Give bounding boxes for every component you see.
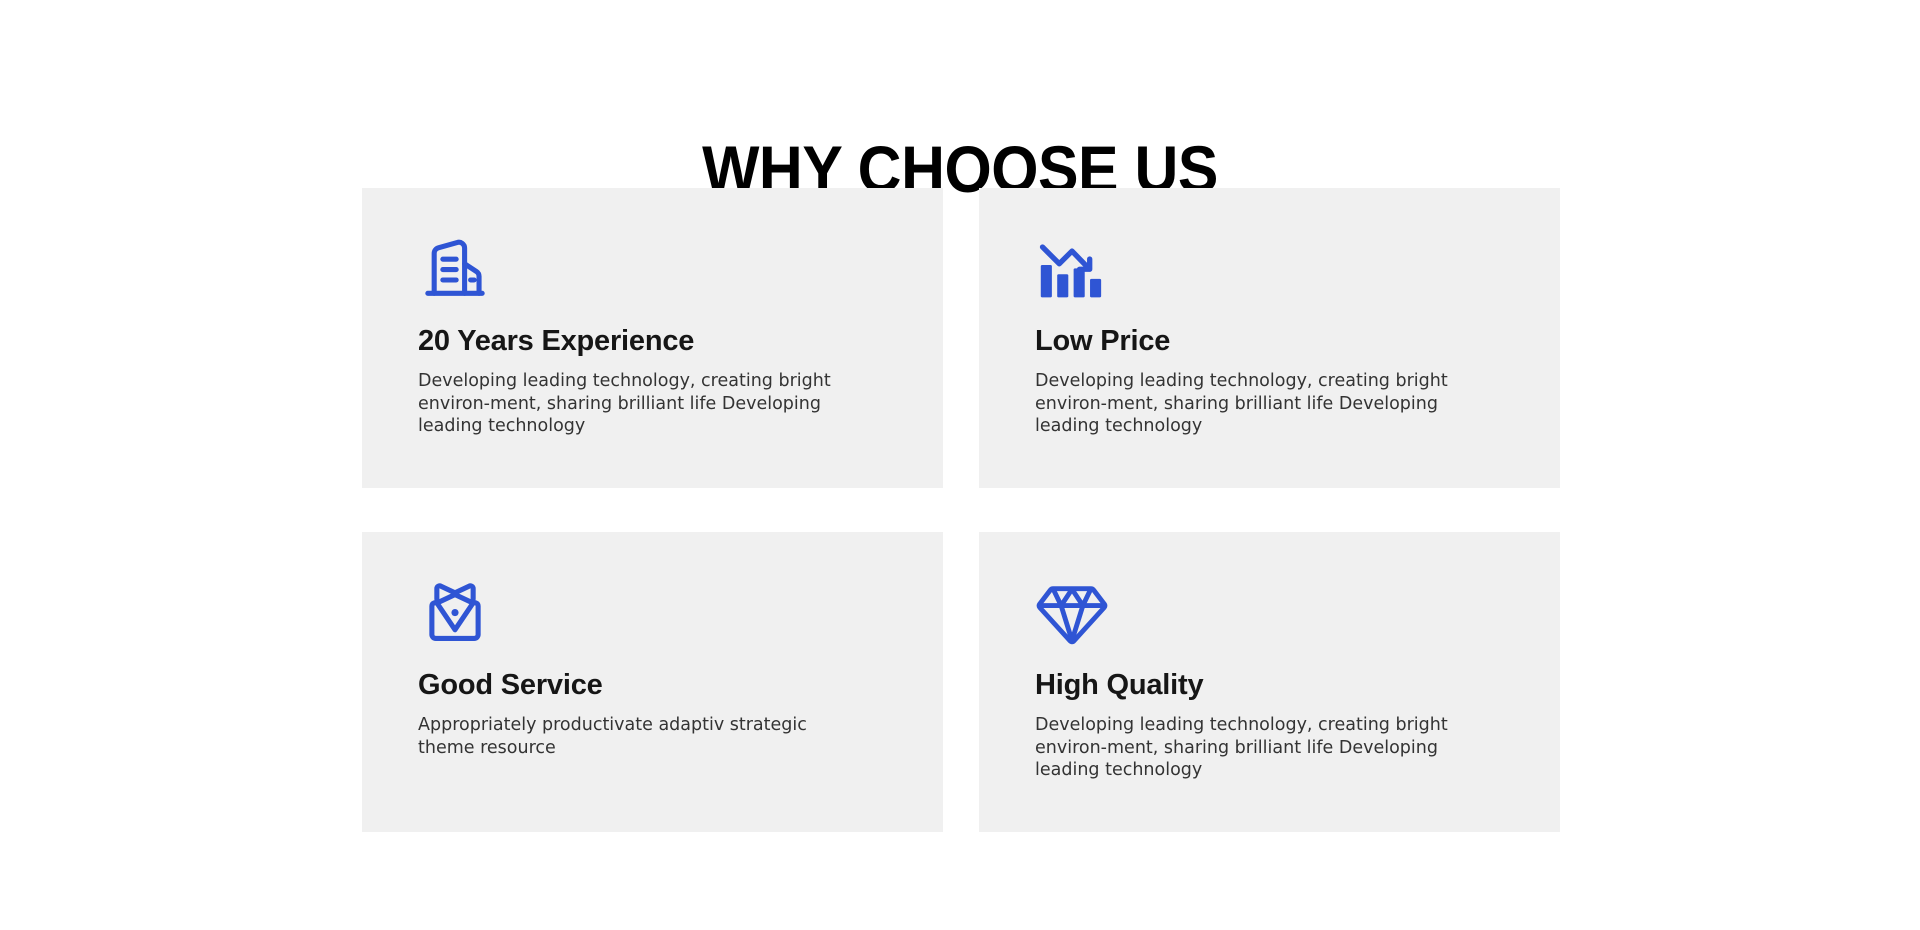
feature-card-description: Appropriately productivate adaptiv strat… xyxy=(418,714,838,759)
feature-card-high-quality[interactable]: High Quality Developing leading technolo… xyxy=(979,532,1560,832)
feature-card-20-years-experience[interactable]: 20 Years Experience Developing leading t… xyxy=(362,188,943,488)
diamond-gem-icon xyxy=(1035,576,1109,650)
feature-card-title: Good Service xyxy=(418,668,887,702)
feature-card-description: Developing leading technology, creating … xyxy=(1035,714,1455,782)
tuxedo-bowtie-icon xyxy=(418,576,492,650)
why-choose-us-section: WHY CHOOSE US 20 Years Experience Develo… xyxy=(0,0,1920,930)
feature-card-title: High Quality xyxy=(1035,668,1504,702)
feature-card-title: 20 Years Experience xyxy=(418,324,887,358)
feature-card-low-price[interactable]: Low Price Developing leading technology,… xyxy=(979,188,1560,488)
feature-card-good-service[interactable]: Good Service Appropriately productivate … xyxy=(362,532,943,832)
feature-card-description: Developing leading technology, creating … xyxy=(418,370,838,438)
feature-card-description: Developing leading technology, creating … xyxy=(1035,370,1455,438)
feature-card-title: Low Price xyxy=(1035,324,1504,358)
office-building-icon xyxy=(418,232,492,306)
declining-bar-chart-icon xyxy=(1035,232,1109,306)
feature-cards-grid: 20 Years Experience Developing leading t… xyxy=(362,188,1560,832)
